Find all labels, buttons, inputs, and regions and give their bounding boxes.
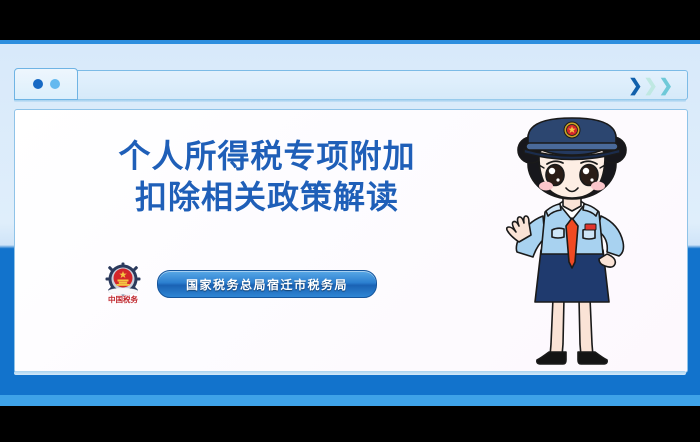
tax-officer-mascot-illustration xyxy=(467,112,677,373)
chevron-right-icon-3[interactable]: ❯ xyxy=(659,77,673,94)
svg-text:中国税务: 中国税务 xyxy=(108,294,138,304)
address-bar[interactable]: ❯ ❯ ❯ xyxy=(70,70,688,100)
browser-tab[interactable] xyxy=(14,68,78,100)
slide-content-panel: 个人所得税专项附加 扣除相关政策解读 xyxy=(14,109,688,373)
letterbox-top-bar xyxy=(0,0,700,40)
slide-title: 个人所得税专项附加 扣除相关政策解读 xyxy=(57,136,477,218)
chevron-right-icon-1[interactable]: ❯ xyxy=(628,77,642,94)
china-tax-bureau-emblem-icon: 中国税务 xyxy=(101,262,145,306)
browser-frame: ❯ ❯ ❯ 个人所得税专项附加 扣除相关政策解读 xyxy=(0,40,700,406)
video-player-screen: ❯ ❯ ❯ 个人所得税专项附加 扣除相关政策解读 xyxy=(0,0,700,442)
browser-toolbar: ❯ ❯ ❯ xyxy=(14,68,686,100)
forward-chevrons[interactable]: ❯ ❯ ❯ xyxy=(628,77,673,94)
panel-shadow xyxy=(14,371,686,375)
chevron-right-icon-2[interactable]: ❯ xyxy=(644,77,658,94)
tab-dot-navy-icon xyxy=(33,79,43,89)
tab-dot-lightblue-icon xyxy=(50,79,60,89)
slide-title-line-2: 扣除相关政策解读 xyxy=(57,177,477,218)
letterbox-bottom-bar xyxy=(0,406,700,442)
organization-row: 中国税务 国家税务总局宿迁市税务局 xyxy=(101,262,377,306)
toolbar-shadow xyxy=(14,99,686,102)
slide-title-line-1: 个人所得税专项附加 xyxy=(118,137,415,175)
organization-badge: 国家税务总局宿迁市税务局 xyxy=(157,270,377,298)
